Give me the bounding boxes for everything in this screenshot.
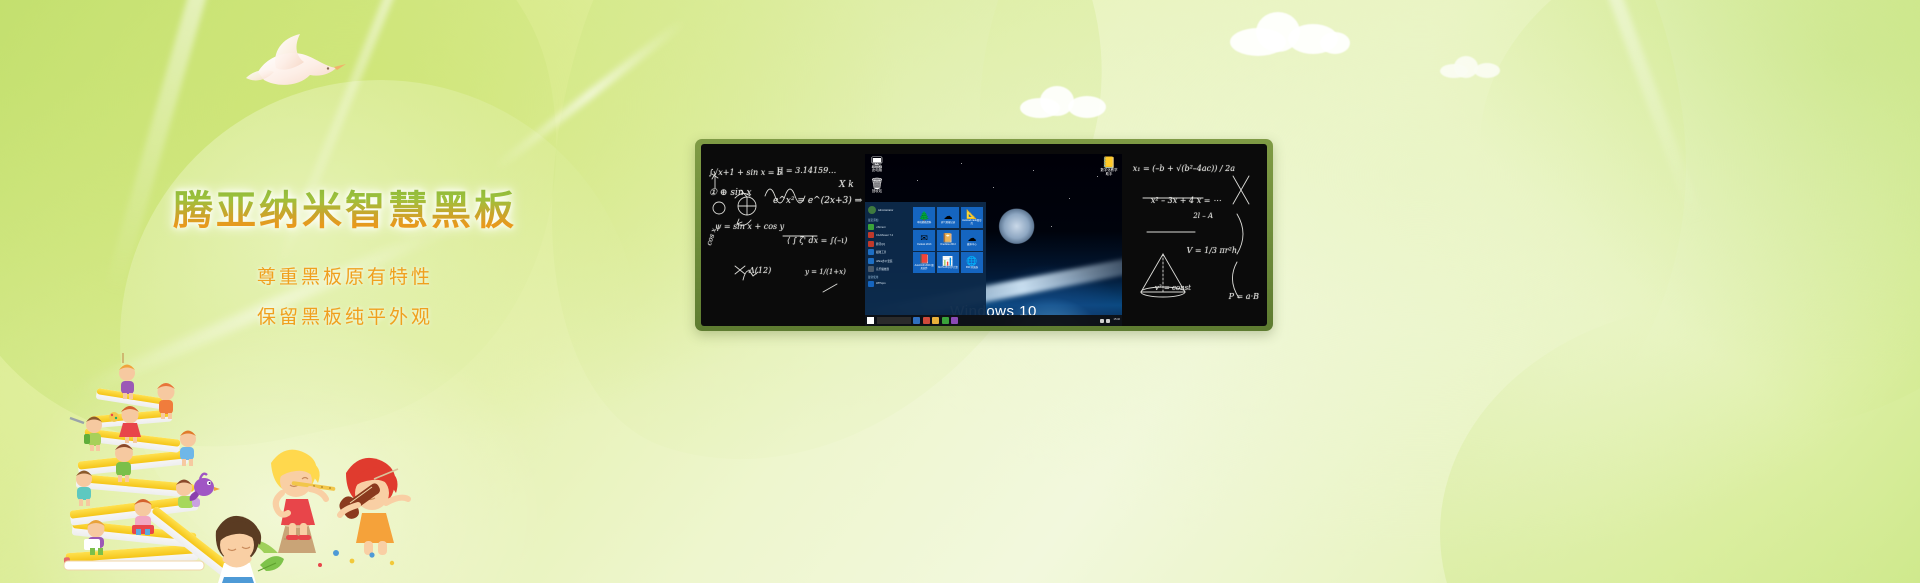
start-menu-item-label: WPSpro <box>876 282 886 285</box>
desktop-icon-recycle-bin[interactable]: 🗑 回收站 <box>868 178 886 194</box>
cloud-icon <box>1020 86 1112 120</box>
start-tile[interactable]: 📊MATLAB 科学计算 <box>937 252 959 273</box>
taskbar-clock[interactable]: 15:32 <box>1114 319 1121 322</box>
children-on-book-stack <box>28 353 418 583</box>
tile-icon: 📊 <box>942 256 953 266</box>
start-menu-tiles[interactable]: 🌲本机邮箱资料 ☁天气预报记录 📐Autocad cadu图形库 ✉Outloo… <box>912 202 986 326</box>
cloud-icon <box>1440 56 1502 80</box>
start-tile[interactable]: 📐Autocad cadu图形库 <box>961 207 983 228</box>
start-menu-user[interactable]: Administrator <box>868 206 909 214</box>
confetti-dot <box>333 550 339 556</box>
purple-bird-icon <box>190 474 220 501</box>
tile-label: AutoCAD 2016 图形软件 <box>913 265 935 270</box>
start-menu-app-list[interactable]: Administrator 最近添加 uTorrent CAJViewer 7.… <box>865 202 912 326</box>
tile-icon: 📐 <box>966 209 977 219</box>
start-button-icon[interactable] <box>867 317 874 324</box>
smart-blackboard[interactable]: ∫√x+1 + sin x = 5 ∏ = 3.14159… X k ① ⊕ s… <box>695 139 1273 331</box>
app-icon <box>868 224 874 230</box>
app-icon <box>868 249 874 255</box>
system-tray[interactable]: 15:32 <box>1100 319 1121 323</box>
taskbar-app-icon[interactable] <box>942 317 949 324</box>
start-menu-group-label: 最常使用 <box>868 275 909 279</box>
start-tile[interactable]: 📕AutoCAD 2016 图形软件 <box>913 252 935 273</box>
desktop-icon-this-pc[interactable]: 🖥 此电脑 <box>868 157 886 173</box>
confetti-dot <box>318 563 322 567</box>
start-tile[interactable]: 📔OneNote 2013 <box>937 230 959 251</box>
start-tile[interactable]: ☁天气预报记录 <box>937 207 959 228</box>
background-light-streak <box>493 17 688 172</box>
app-icon <box>868 232 874 238</box>
kid-flute-player <box>271 450 336 540</box>
taskbar-app-icon[interactable] <box>932 317 939 324</box>
start-tile[interactable]: 🌲本机邮箱资料 <box>913 207 935 228</box>
tile-icon: ☁ <box>967 233 976 243</box>
start-menu-item[interactable]: CAJViewer 7.2 <box>868 232 909 238</box>
start-tile[interactable]: ☁媒体中心 <box>961 230 983 251</box>
tile-label: 360 浏览器 <box>965 267 979 270</box>
subtitle-line-2: 保留黑板纯平外观 <box>0 298 690 338</box>
tile-icon: ✉ <box>920 233 928 243</box>
tile-icon: 🌲 <box>919 211 930 221</box>
start-menu-group-label: 最近添加 <box>868 218 909 222</box>
desktop-icon-label: 数字化教学助手 <box>1101 168 1118 176</box>
start-menu-item-label: office办公套装 <box>876 259 893 263</box>
start-menu[interactable]: Administrator 最近添加 uTorrent CAJViewer 7.… <box>865 202 986 326</box>
start-menu-item[interactable]: 音乐播放器 <box>868 266 909 272</box>
desktop-icon-label: 回收站 <box>872 189 882 193</box>
chalk-sketch-left <box>705 158 863 324</box>
kid-violin-player <box>339 458 408 555</box>
start-menu-item-label: 截图工具 <box>876 250 886 254</box>
page-title: 腾亚纳米智慧黑板 <box>173 186 517 236</box>
confetti-dot <box>350 559 355 564</box>
start-menu-item[interactable]: 腾讯QQ <box>868 241 909 247</box>
tile-label: 媒体中心 <box>966 244 978 247</box>
tile-label: OneNote 2013 <box>939 244 957 247</box>
start-menu-item-label: 音乐播放器 <box>876 267 889 271</box>
start-tile[interactable]: 🌐360 浏览器 <box>961 252 983 273</box>
tile-label: 本机邮箱资料 <box>916 222 932 225</box>
taskbar-app-icon[interactable] <box>923 317 930 324</box>
tile-icon: 📔 <box>942 233 953 243</box>
blackboard-surface[interactable]: ∫√x+1 + sin x = 5 ∏ = 3.14159… X k ① ⊕ s… <box>701 144 1267 326</box>
banner-copy: 腾亚纳米智慧黑板 尊重黑板原有特性 保留黑板纯平外观 <box>0 186 690 338</box>
tray-network-icon[interactable] <box>1100 319 1104 323</box>
user-name: Administrator <box>878 209 893 212</box>
confetti-dot <box>390 561 394 565</box>
tile-label: 天气预报记录 <box>940 222 956 225</box>
tile-icon: ☁ <box>943 211 952 221</box>
blackboard-frame: ∫√x+1 + sin x = 5 ∏ = 3.14159… X k ① ⊕ s… <box>695 139 1273 331</box>
start-menu-item[interactable]: uTorrent <box>868 224 909 230</box>
app-icon <box>868 281 874 287</box>
subtitle-block: 尊重黑板原有特性 保留黑板纯平外观 <box>0 258 690 338</box>
dove-icon <box>238 28 348 96</box>
cloud-icon <box>1230 12 1350 58</box>
app-icon <box>868 266 874 272</box>
start-menu-item-label: 腾讯QQ <box>876 242 885 246</box>
app-icon <box>868 258 874 264</box>
kid-teal-shirt <box>76 471 92 507</box>
tile-icon: 🌐 <box>966 256 977 266</box>
desktop-icon-label: 此电脑 <box>872 168 882 172</box>
confetti-dot <box>369 552 374 557</box>
desktop-icon-teaching-assistant[interactable]: 📒 数字化教学助手 <box>1100 157 1118 177</box>
children-illustration <box>28 353 418 583</box>
tile-label: Autocad cadu图形库 <box>961 220 983 225</box>
avatar <box>868 206 876 214</box>
start-menu-item-label: uTorrent <box>876 226 886 229</box>
background-light-streak <box>1602 0 1704 225</box>
tray-volume-icon[interactable] <box>1106 319 1110 323</box>
search-input[interactable] <box>877 317 911 324</box>
taskbar-app-icon[interactable] <box>913 317 920 324</box>
tile-label: Outlook 2013 <box>916 244 932 247</box>
background-shape-leaf-f <box>1440 303 1920 583</box>
taskbar-app-icon[interactable] <box>951 317 958 324</box>
start-menu-item[interactable]: 截图工具 <box>868 249 909 255</box>
chalk-sketch-right <box>1133 158 1263 324</box>
leaf-icon <box>258 556 284 571</box>
tile-label: MATLAB 科学计算 <box>937 267 959 270</box>
subtitle-line-1: 尊重黑板原有特性 <box>0 258 690 298</box>
taskbar[interactable]: 15:32 <box>865 315 1122 326</box>
start-menu-item[interactable]: WPSpro <box>868 281 909 287</box>
background-shape-leaf-e <box>1480 0 1920 430</box>
start-menu-item-label: CAJViewer 7.2 <box>876 234 893 237</box>
tile-icon: 📕 <box>919 254 930 264</box>
start-menu-item[interactable]: office办公套装 <box>868 258 909 264</box>
windows-screen[interactable]: 🖥 此电脑 🗑 回收站 📒 数字化教学助手 Windows 10 <box>865 154 1122 326</box>
start-tile[interactable]: ✉Outlook 2013 <box>913 230 935 251</box>
app-icon <box>868 241 874 247</box>
